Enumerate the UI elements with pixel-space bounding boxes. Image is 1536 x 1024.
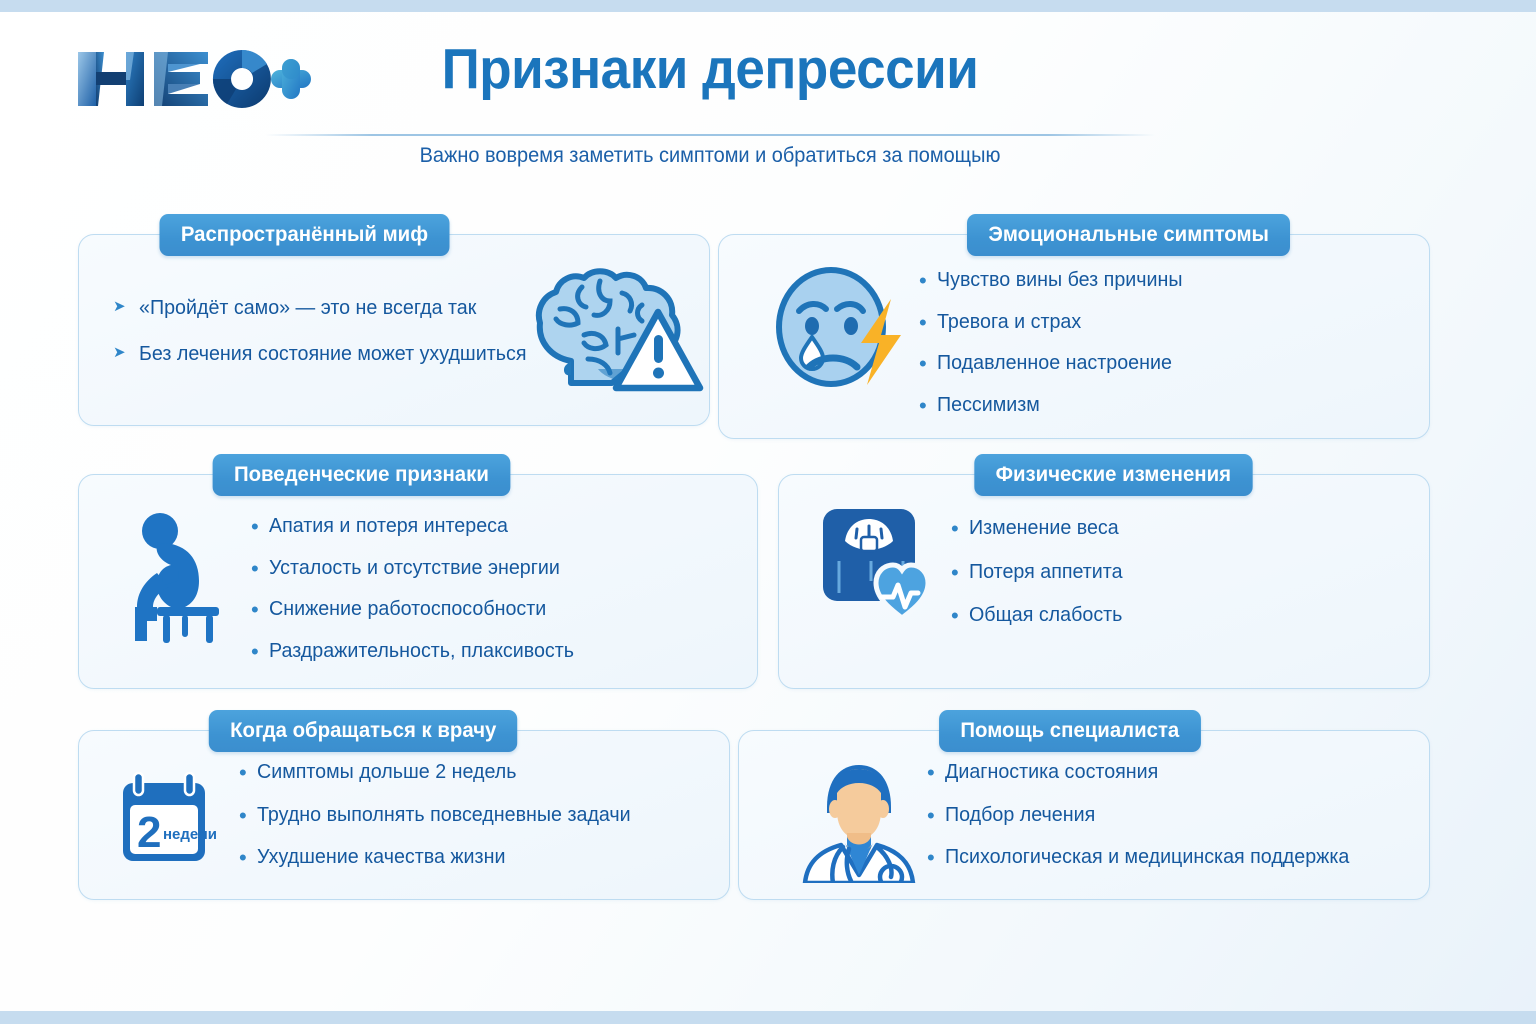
doctor-icon	[789, 753, 929, 883]
dot-bullet-icon: •	[251, 638, 259, 666]
card-specialist-badge: Помощь специалиста	[939, 710, 1201, 752]
list-item: • Подавленное настроение	[919, 350, 1389, 378]
card-myth-badge: Распространённый миф	[159, 214, 449, 256]
card-myth: Распространённый миф ➤ «Пройдёт само» — …	[78, 234, 710, 426]
list-item: • Раздражительность, плаксивость	[251, 638, 721, 666]
header: Признаки депрессии Важно вовремя заметит…	[0, 12, 1536, 187]
list-item: • Психологическая и медицинская поддержк…	[927, 844, 1417, 872]
list-item: • Трудно выполнять повседневные задачи	[239, 802, 699, 830]
neo-plus-logo	[72, 40, 312, 118]
card-specialist-help: Помощь специалиста	[738, 730, 1430, 900]
list-item: • Пессимизм	[919, 392, 1389, 420]
svg-text:недели: недели	[163, 826, 217, 843]
dot-bullet-icon: •	[927, 802, 935, 830]
list-item: • Потеря аппетита	[951, 559, 1381, 587]
dot-bullet-icon: •	[951, 559, 959, 587]
dot-bullet-icon: •	[927, 759, 935, 787]
brain-warning-icon	[526, 265, 706, 405]
list-item: • Симптомы дольше 2 недель	[239, 759, 699, 787]
weight-scale-heart-icon	[819, 505, 949, 630]
list-item: • Апатия и потеря интереса	[251, 513, 721, 541]
card-behavioral: Поведенческие признаки	[78, 474, 758, 689]
list-item: • Общая слабость	[951, 602, 1381, 630]
sad-face-lightning-icon	[769, 263, 909, 393]
dot-bullet-icon: •	[239, 759, 247, 787]
dot-bullet-icon: •	[919, 350, 927, 378]
card-physical-badge: Физические изменения	[974, 454, 1252, 496]
infographic-page: Признаки депрессии Важно вовремя заметит…	[0, 12, 1536, 1011]
list-item: • Чувство вины без причины	[919, 267, 1389, 295]
calendar-2-weeks-icon: 2 недели	[111, 769, 221, 874]
list-item: ➤ «Пройдёт само» — это не всегда так	[113, 295, 513, 321]
dot-bullet-icon: •	[239, 844, 247, 872]
dot-bullet-icon: •	[919, 392, 927, 420]
dot-bullet-icon: •	[919, 267, 927, 295]
dot-bullet-icon: •	[251, 596, 259, 624]
card-emotional-badge: Эмоциональные симптомы	[967, 214, 1290, 256]
card-behavioral-badge: Поведенческие признаки	[213, 454, 511, 496]
dot-bullet-icon: •	[927, 844, 935, 872]
card-when-list: • Симптомы дольше 2 недель • Трудно выпо…	[239, 759, 699, 872]
card-myth-list: ➤ «Пройдёт само» — это не всегда так ➤ Б…	[113, 295, 513, 366]
page-title: Признаки депрессии	[296, 40, 1124, 100]
list-item: • Изменение веса	[951, 515, 1381, 543]
card-physical: Физические изменения • Изменение веса	[778, 474, 1430, 689]
dot-bullet-icon: •	[951, 602, 959, 630]
card-specialist-list: • Диагностика состояния • Подбор лечения…	[927, 759, 1417, 872]
dot-bullet-icon: •	[251, 555, 259, 583]
list-item: • Диагностика состояния	[927, 759, 1417, 787]
card-physical-list: • Изменение веса • Потеря аппетита • Общ…	[951, 515, 1381, 630]
list-item: • Снижение работоспособности	[251, 596, 721, 624]
list-item: • Тревога и страх	[919, 309, 1389, 337]
card-emotional: Эмоциональные симптомы • Чувство вины бе…	[718, 234, 1430, 439]
card-when-to-see-doctor: Когда обращаться к врачу 2 недели • Симп…	[78, 730, 730, 900]
dot-bullet-icon: •	[919, 309, 927, 337]
page-subtitle: Важно вовремя заметить симптоми и обрати…	[287, 144, 1133, 168]
arrow-bullet-icon: ➤	[113, 344, 126, 363]
card-behavioral-list: • Апатия и потеря интереса • Усталость и…	[251, 513, 721, 665]
dot-bullet-icon: •	[239, 802, 247, 830]
calendar-number: 2	[137, 808, 161, 857]
dot-bullet-icon: •	[951, 515, 959, 543]
sitting-person-icon	[127, 511, 237, 646]
arrow-bullet-icon: ➤	[113, 298, 126, 317]
title-divider	[265, 134, 1155, 136]
list-item: • Усталость и отсутствие энергии	[251, 555, 721, 583]
dot-bullet-icon: •	[251, 513, 259, 541]
card-emotional-list: • Чувство вины без причины • Тревога и с…	[919, 267, 1389, 419]
list-item: • Подбор лечения	[927, 802, 1417, 830]
card-when-badge: Когда обращаться к врачу	[209, 710, 518, 752]
list-item: ➤ Без лечения состояние может ухудшиться	[113, 341, 513, 367]
list-item: • Ухудшение качества жизни	[239, 844, 699, 872]
